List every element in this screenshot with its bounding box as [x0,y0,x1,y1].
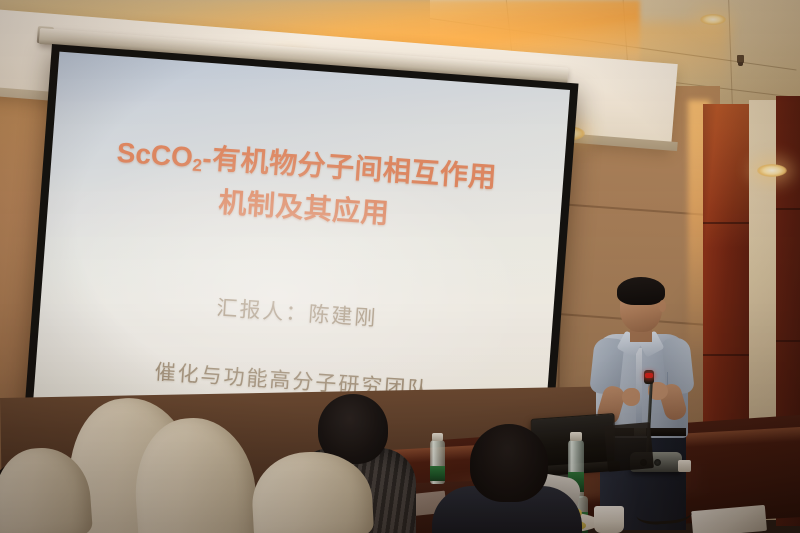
slide-title-line2: 机制及其应用 [218,186,391,228]
microphone-led-indicator[interactable] [645,373,653,378]
presenter-ear [659,300,666,312]
wood-panel-seam [776,208,800,210]
audience-member-dark-suit-head [470,424,548,502]
water-bottle-cap [432,433,443,441]
presenter-hair [617,277,665,305]
small-table-item [678,460,691,472]
presenter-hand-left [622,388,640,406]
paper-cup[interactable] [594,506,624,533]
sprinkler-head [737,55,744,63]
presenter-shirt-placket [636,348,642,424]
microphone-button[interactable] [654,459,661,466]
wood-panel-seam [776,340,800,342]
slide-title-formula-pre: ScCO [116,137,194,173]
wood-panel-seam [703,222,749,224]
water-bottle-cap [570,432,582,441]
slide-title: ScCO2-有机物分子间相互作用 机制及其应用 [113,132,499,242]
laptop-secondary[interactable] [604,422,654,472]
recessed-downlight [757,164,787,177]
slide-presenter-line: 汇报人：陈建刚 [216,292,379,333]
wood-panel-seam [703,354,749,356]
slide-title-line1-rest: -有机物分子间相互作用 [202,143,498,193]
water-bottle-label [430,466,445,481]
conference-room-photo: ScCO2-有机物分子间相互作用 机制及其应用 汇报人：陈建刚 催化与功能高分子… [0,0,800,533]
recessed-downlight [700,14,726,25]
